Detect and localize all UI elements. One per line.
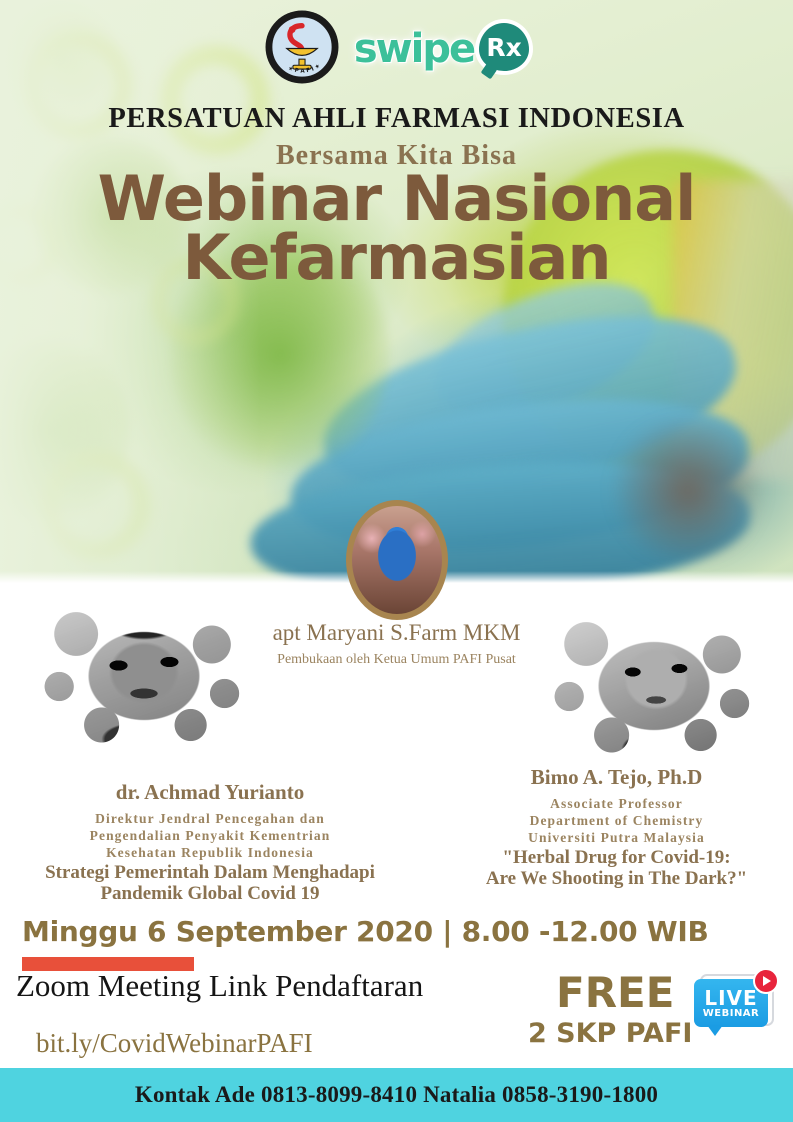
speaker-block-left: dr. Achmad Yurianto Direktur Jendral Pen…	[0, 780, 420, 905]
pafi-logo-icon: PERSATUAN AHLI FARMASI ★ P A F I ★	[264, 9, 340, 85]
webinar-poster: PERSATUAN AHLI FARMASI ★ P A F I ★ swipe…	[0, 0, 793, 1122]
event-datetime: Minggu 6 September 2020 | 8.00 -12.00 WI…	[22, 915, 709, 948]
logo-row: PERSATUAN AHLI FARMASI ★ P A F I ★ swipe…	[0, 6, 793, 88]
speaker-affiliation: Associate Professor Department of Chemis…	[440, 795, 793, 846]
live-webinar-badge: LIVE WEBINAR	[694, 972, 778, 1038]
registration-label: Zoom Meeting Link Pendaftaran	[16, 968, 423, 1004]
opening-speaker-avatar	[346, 500, 448, 620]
speaker-topic: "Herbal Drug for Covid-19: Are We Shooti…	[440, 848, 793, 890]
page-title: Webinar Nasional Kefarmasian	[0, 170, 793, 288]
swiperx-logo: swipe Rx	[354, 23, 529, 71]
speaker-photo-left	[38, 585, 250, 760]
title-line-2: Kefarmasian	[0, 229, 793, 288]
registration-link[interactable]: bit.ly/CovidWebinarPAFI	[36, 1028, 313, 1059]
opening-speaker-role: Pembukaan oleh Ketua Umum PAFI Pusat	[0, 652, 793, 668]
badge-live-label: LIVE	[704, 988, 757, 1008]
skin-tone-graphic	[603, 420, 773, 560]
speaker-block-right: Bimo A. Tejo, Ph.D Associate Professor D…	[440, 765, 793, 890]
rx-bubble-icon: Rx	[479, 23, 529, 71]
swipe-wordmark: swipe	[354, 29, 474, 69]
speaker-affiliation: Direktur Jendral Pencegahan dan Pengenda…	[0, 810, 420, 861]
contact-text: Kontak Ade 0813-8099-8410 Natalia 0858-3…	[135, 1082, 658, 1108]
speaker-topic: Strategi Pemerintah Dalam Menghadapi Pan…	[0, 863, 420, 905]
rx-label: Rx	[486, 35, 521, 60]
contact-bar: Kontak Ade 0813-8099-8410 Natalia 0858-3…	[0, 1068, 793, 1122]
play-icon	[753, 968, 779, 994]
speaker-name: Bimo A. Tejo, Ph.D	[440, 765, 793, 790]
speaker-name: dr. Achmad Yurianto	[0, 780, 420, 805]
badge-webinar-label: WEBINAR	[703, 1009, 760, 1019]
credits-badge: 2 SKP PAFI	[528, 1018, 692, 1049]
organization-name: PERSATUAN AHLI FARMASI INDONESIA	[0, 103, 793, 135]
price-badge: FREE	[556, 968, 674, 1017]
opening-speaker-name: apt Maryani S.Farm MKM	[0, 620, 793, 646]
